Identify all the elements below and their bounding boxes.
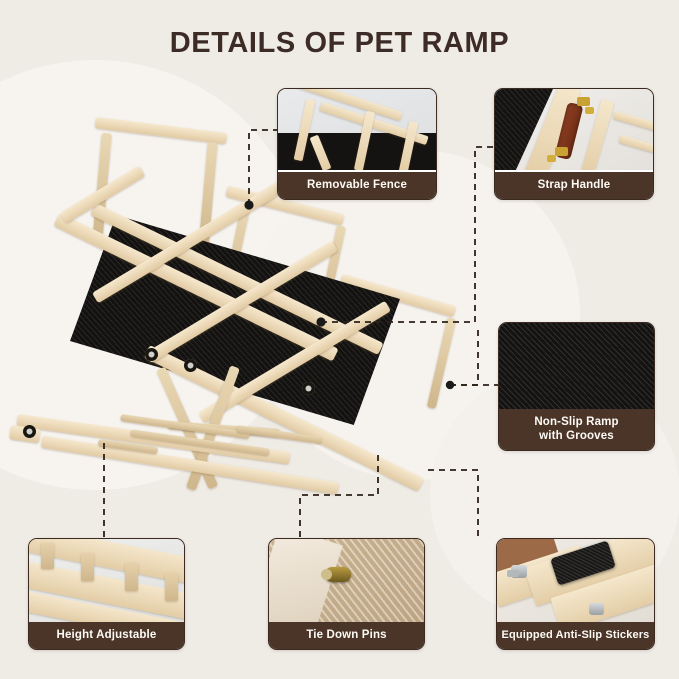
pivot-knob-upper <box>145 348 158 361</box>
card-non-slip-caption: Non-Slip Ramp with Grooves <box>499 409 654 450</box>
card-tie-down-pins[interactable]: Tie Down Pins <box>268 538 425 650</box>
pivot-knob-leg <box>184 359 197 372</box>
card-non-slip-caption-line2: with Grooves <box>539 430 614 443</box>
tie-down-pin-on-ramp <box>302 382 315 395</box>
card-anti-slip-photo <box>497 539 654 622</box>
card-non-slip-ramp[interactable]: Non-Slip Ramp with Grooves <box>498 322 655 451</box>
card-removable-fence-caption: Removable Fence <box>278 172 436 199</box>
fence-post-3b <box>427 317 456 409</box>
card-strap-handle[interactable]: Strap Handle <box>494 88 654 200</box>
card-removable-fence[interactable]: Removable Fence <box>277 88 437 200</box>
card-anti-slip-caption: Equipped Anti-Slip Stickers <box>497 622 654 649</box>
infographic-canvas: DETAILS OF PET RAMP <box>0 0 679 679</box>
card-non-slip-caption-line1: Non-Slip Ramp <box>534 416 618 429</box>
card-tie-down-caption: Tie Down Pins <box>269 622 424 649</box>
fence-top-rail-1 <box>95 117 227 144</box>
card-removable-fence-photo <box>278 89 436 170</box>
card-anti-slip-stickers[interactable]: Equipped Anti-Slip Stickers <box>496 538 655 650</box>
card-strap-handle-photo <box>495 89 653 170</box>
pivot-knob-base-left <box>23 425 36 438</box>
page-title: DETAILS OF PET RAMP <box>0 27 679 60</box>
card-strap-handle-caption: Strap Handle <box>495 172 653 199</box>
card-height-adjustable[interactable]: Height Adjustable <box>28 538 185 650</box>
card-height-adjustable-caption: Height Adjustable <box>29 622 184 649</box>
product-image <box>0 95 520 525</box>
card-tie-down-photo <box>269 539 424 622</box>
card-height-adjustable-photo <box>29 539 184 622</box>
card-non-slip-photo <box>499 323 654 409</box>
